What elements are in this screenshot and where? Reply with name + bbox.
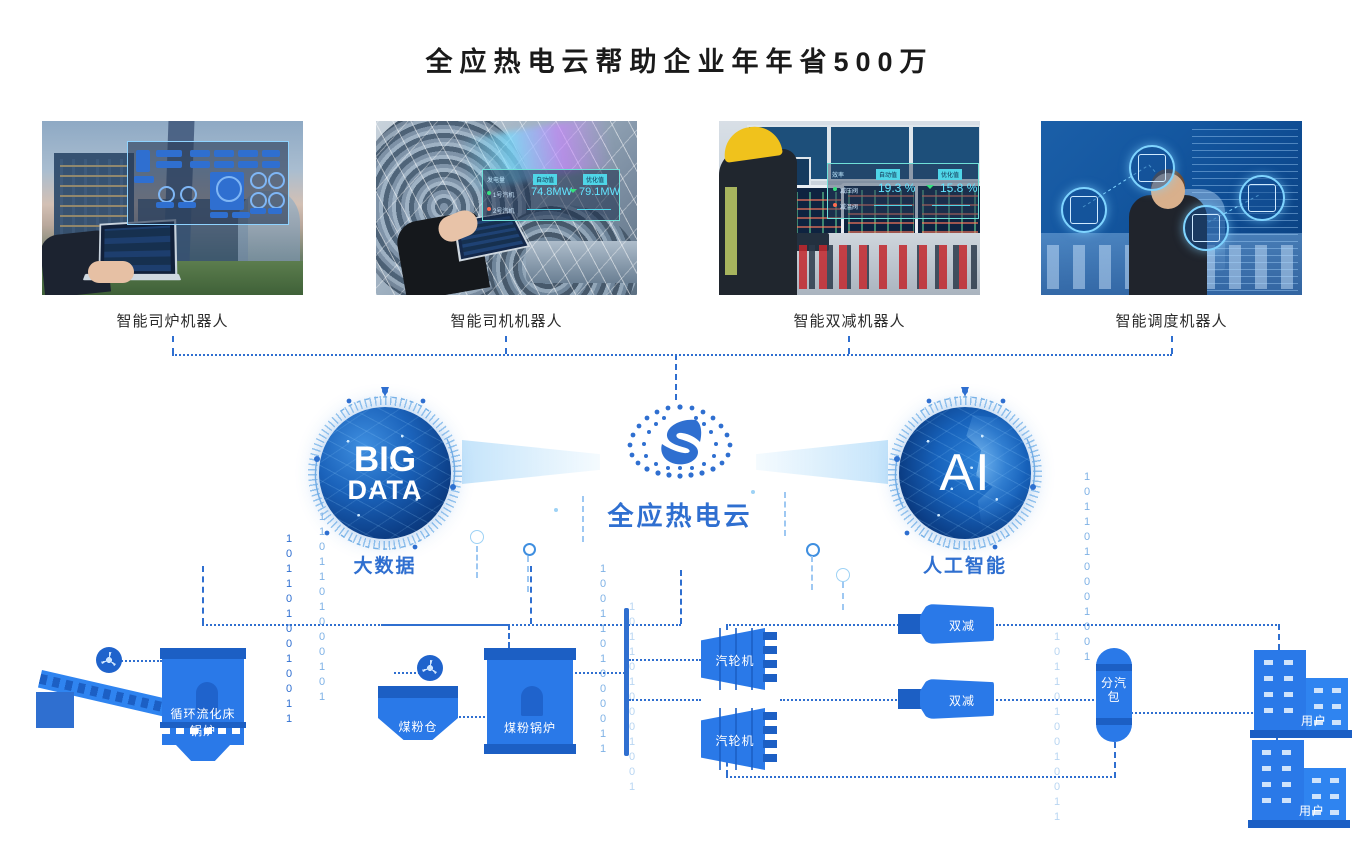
overlay-col-optimized: 优化值 (583, 174, 607, 185)
ai-globe-image: AI (899, 407, 1031, 539)
overlay-row-header: 发电量 (487, 175, 505, 184)
binary-stream-5: 1011010001001 (1081, 470, 1093, 665)
overlay-row-header: 效率 (832, 170, 844, 179)
connector-photo2-down (505, 336, 507, 354)
connector-customer1-down (1278, 624, 1280, 650)
ai-sphere: AI 人工智能 (877, 385, 1053, 561)
overlay-row-1-auto: 19.3 % (878, 181, 915, 195)
customer-1: 用户 (1254, 650, 1352, 738)
steam-header: 分汽包 (1096, 648, 1132, 742)
pulverized-coal-boiler: 煤粉锅炉 (487, 648, 573, 756)
connector-top-bus (172, 354, 1172, 356)
overlay-row-1-optimized: 15.8 % (940, 181, 977, 195)
overlay-col-auto: 自动值 (876, 169, 900, 180)
connector-photo4-down (1171, 336, 1173, 354)
overlay-row-2-name: 2号汽机 (493, 206, 514, 215)
pressure-reducer-1: 双减 (898, 604, 996, 644)
overlay-row-1-auto: 74.8MW (531, 186, 572, 198)
caption-boiler-robot: 智能司炉机器人 (42, 310, 303, 331)
chart-search-icon (1061, 187, 1107, 233)
bigdata-line1: BIG (354, 442, 416, 477)
deco-ring (470, 530, 484, 544)
photo-card-dispatch-robot[interactable] (1041, 121, 1302, 295)
connector-manifold-turbine1 (629, 659, 701, 661)
beam-bigdata-to-cloud (462, 440, 600, 484)
photo-card-boiler-robot[interactable] (42, 121, 303, 295)
overlay-row-1-name: 减压阀 (840, 186, 858, 195)
bigdata-globe-image: BIG DATA (319, 407, 451, 539)
deco-ring (806, 543, 820, 557)
connector-cfb-up (202, 566, 204, 624)
page-title: 全应热电云帮助企业年年省500万 (0, 40, 1359, 79)
turbine-2-label: 汽轮机 (709, 732, 761, 749)
flame-monitor-icon (1129, 145, 1175, 191)
deco-ring (836, 568, 850, 582)
turbine-1-label: 汽轮机 (709, 652, 761, 669)
reducer-2-label: 双减 (938, 692, 986, 709)
steam-turbine-1: 汽轮机 (701, 628, 779, 690)
deco-dash (842, 582, 844, 610)
deco-dash (811, 556, 813, 590)
trend-report-icon (1239, 175, 1285, 221)
deco-dot (751, 490, 755, 494)
cfb-boiler: 循环流化床锅炉 (162, 648, 244, 758)
photo-card-reducer-robot[interactable]: 效率 自动值 优化值 减压阀 19.3 % 15.8 % 减温阀 (719, 121, 980, 295)
fan-icon (417, 655, 443, 681)
control-room-operator-photo: 效率 自动值 优化值 减压阀 19.3 % 15.8 % 减温阀 (719, 121, 980, 295)
connector-turbine1-to-reducer1 (726, 624, 906, 626)
fan-icon (96, 647, 122, 673)
power-plant-dusk-laptop-photo (42, 121, 303, 295)
overlay-row-1-optimized: 79.1MW (579, 186, 620, 198)
overlay-row-2-name: 减温阀 (840, 202, 858, 211)
cfb-boiler-label: 循环流化床锅炉 (167, 705, 239, 739)
connector-pc-boiler-up (530, 566, 532, 624)
deco-dash (527, 556, 529, 592)
beam-ai-to-cloud (756, 440, 888, 484)
connector-to-pc-boiler (508, 624, 510, 648)
valve-kpi-overlay: 效率 自动值 优化值 减压阀 19.3 % 15.8 % 减温阀 (827, 163, 979, 219)
quanying-cloud-logo (604, 402, 756, 480)
reducer-1-label: 双减 (938, 617, 986, 634)
steam-turbine-2: 汽轮机 (701, 708, 779, 770)
bigdata-line2: DATA (348, 477, 423, 504)
coal-silo-label: 煤粉仓 (378, 718, 458, 735)
coal-powder-silo: 煤粉仓 (378, 686, 458, 742)
binary-stream-6: 1011010010011 (1051, 630, 1063, 825)
overlay-row-1-name: 1号汽机 (493, 190, 514, 199)
ai-caption: 人工智能 (877, 551, 1053, 578)
steam-manifold-bar (624, 608, 629, 756)
customer-2-label: 用户 (1292, 802, 1332, 819)
turbine-kpi-overlay: 发电量 自动值 优化值 1号汽机 74.8MW 79.1MW 2号汽机 (482, 169, 620, 221)
connector-header-down (1114, 742, 1116, 778)
overlay-col-auto: 自动值 (533, 174, 557, 185)
steam-header-label: 分汽包 (1096, 676, 1132, 704)
caption-driver-robot: 智能司机机器人 (376, 310, 637, 331)
deco-dash (476, 546, 478, 578)
connector-photo1-down (172, 336, 174, 354)
executive-blue-tech-wall-photo (1041, 121, 1302, 295)
binary-stream-1: 1011010010011 (283, 532, 295, 727)
connector-row-mid (381, 624, 681, 626)
steam-turbine-tablet-photo: 发电量 自动值 优化值 1号汽机 74.8MW 79.1MW 2号汽机 (376, 121, 637, 295)
pc-boiler-label: 煤粉锅炉 (491, 719, 569, 736)
connector-turbine-up (680, 570, 682, 624)
customer-1-label: 用户 (1294, 712, 1334, 729)
deco-ring (523, 543, 536, 556)
connector-photo3-down (848, 336, 850, 354)
customer-2: 用户 (1252, 740, 1350, 828)
boiler-hmi-overlay (127, 141, 289, 225)
deco-dash (784, 492, 786, 536)
connector-manifold-turbine2 (629, 699, 701, 701)
deco-dash (582, 496, 584, 542)
pressure-reducer-2: 双减 (898, 679, 996, 719)
down-arrow-icon (926, 185, 934, 193)
caption-reducer-robot: 智能双减机器人 (719, 310, 980, 331)
binary-stream-3: 1001101000011 (597, 562, 609, 757)
connector-bottom-return (726, 776, 1116, 778)
ai-label: AI (939, 447, 990, 499)
connector-bus-to-cloud (675, 354, 677, 400)
caption-dispatch-robot: 智能调度机器人 (1041, 310, 1302, 331)
alarm-icon (1183, 205, 1229, 251)
cloud-caption: 全应热电云 (578, 496, 782, 533)
binary-stream-2: 1101101000101 (316, 510, 328, 705)
connector-reducer1-to-customer1 (996, 624, 1280, 626)
deco-dot (554, 508, 558, 512)
overlay-col-optimized: 优化值 (938, 169, 962, 180)
down-arrow-icon (569, 189, 577, 197)
photo-card-driver-robot[interactable]: 发电量 自动值 优化值 1号汽机 74.8MW 79.1MW 2号汽机 (376, 121, 637, 295)
infographic-canvas: 全应热电云帮助企业年年省500万 (0, 0, 1359, 842)
connector-turbine2-to-reducer2 (780, 699, 900, 701)
